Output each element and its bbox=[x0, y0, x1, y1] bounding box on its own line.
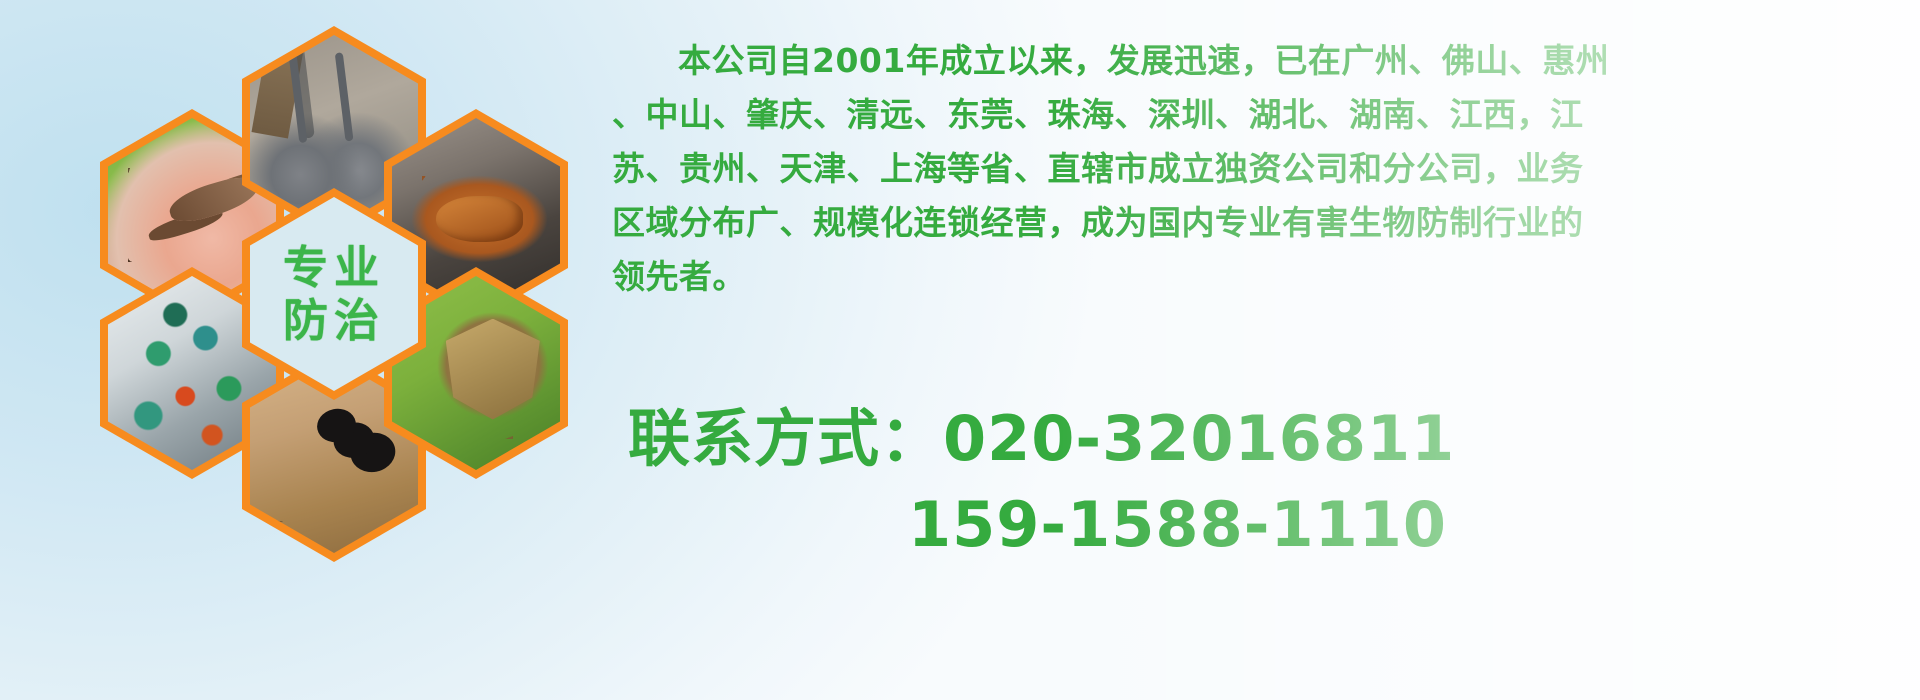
description-line-3: 苏、贵州、天津、上海等省、直辖市成立独资公司和分公司，业务 bbox=[612, 142, 1882, 196]
pest-control-banner: 专业 防治 本公司自2001年成立以来，发展迅速，已在广州、佛山、惠州 、中山、… bbox=[0, 0, 1920, 700]
description-line-5: 领先者。 bbox=[612, 250, 1882, 304]
description-line-2: 、中山、肇庆、清远、东莞、珠海、深圳、湖北、湖南、江西，江 bbox=[612, 88, 1882, 142]
slogan-line-2: 防治 bbox=[283, 294, 385, 347]
contact-line-mobile[interactable]: 159-1588-1110 bbox=[628, 482, 1888, 568]
slogan-line-1: 专业 bbox=[283, 241, 385, 294]
hex-slogan-inner: 专业 防治 bbox=[250, 197, 418, 391]
honeycomb-cluster: 专业 防治 bbox=[70, 0, 590, 576]
company-description: 本公司自2001年成立以来，发展迅速，已在广州、佛山、惠州 、中山、肇庆、清远、… bbox=[612, 34, 1882, 304]
contact-line-primary[interactable]: 联系方式：020-32016811 bbox=[628, 396, 1888, 482]
slogan-text: 专业 防治 bbox=[283, 241, 385, 347]
description-line-4: 区域分布广、规模化连锁经营，成为国内专业有害生物防制行业的 bbox=[612, 196, 1882, 250]
contact-block: 联系方式：020-32016811 159-1588-1110 bbox=[628, 396, 1888, 568]
description-line-1: 本公司自2001年成立以来，发展迅速，已在广州、佛山、惠州 bbox=[612, 34, 1882, 88]
